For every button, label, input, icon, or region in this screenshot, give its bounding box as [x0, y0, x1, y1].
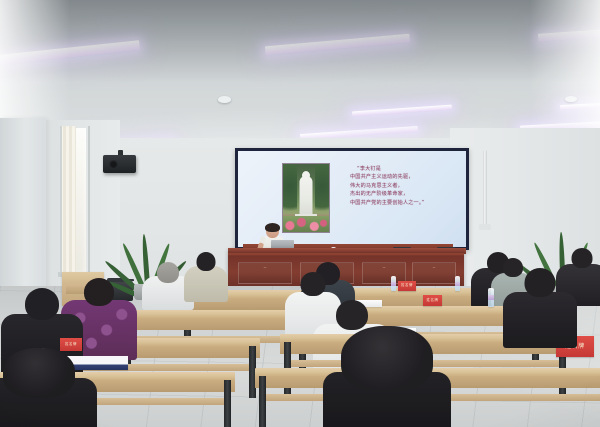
stage-desk-panel	[412, 262, 456, 284]
attendee-head	[301, 272, 326, 296]
slide-text-block: “李大钉是 中国共产主义运动的先驱， 伟大的马克思主义者， 杰出的无产阶级革命家…	[350, 165, 466, 207]
attendee-torso	[503, 292, 577, 348]
window-frame	[60, 126, 90, 276]
attendee-front-center-black	[322, 326, 452, 427]
attendee-head	[197, 252, 216, 271]
presenter-hair	[265, 223, 280, 232]
namecard-text: 姓名牌	[401, 284, 413, 287]
wall-speaker-icon	[103, 155, 136, 173]
desk-front-panel	[120, 318, 310, 330]
slide-text-line-5: 中国共产党的主要创始人之一。”	[350, 199, 466, 207]
stage-panel-chevron	[251, 267, 279, 275]
attendee-torso	[184, 266, 228, 302]
stage-panel-chevron	[370, 267, 398, 275]
wall-conduit-cap	[479, 224, 491, 230]
desk-namecard: 姓名牌	[423, 295, 442, 306]
statue-head	[302, 171, 310, 180]
attendee-front-left-nearest	[0, 348, 98, 427]
stage-desk-lip	[228, 248, 464, 253]
slide-text-line-3: 伟大的马克思主义者，	[350, 182, 466, 190]
attendee-head	[157, 262, 179, 283]
slide-foliage-right	[315, 164, 329, 220]
attendee-right-black-tee-2	[502, 268, 578, 344]
attendee-head	[341, 326, 433, 392]
wall-conduit-pipe	[483, 150, 487, 228]
stage-panel-chevron	[420, 267, 448, 275]
slide-text-line-2: 中国共产主义运动的先驱，	[350, 173, 466, 181]
attendee-head	[84, 278, 114, 306]
attendee-head	[3, 348, 75, 398]
water-bottle	[391, 276, 396, 291]
attendee-beige-top	[183, 252, 229, 300]
namecard-text: 姓名牌	[65, 343, 77, 346]
desk-leg	[224, 380, 231, 427]
water-bottle	[455, 276, 460, 291]
namecard-text: 姓名牌	[427, 299, 439, 302]
slide-foliage-left	[283, 164, 297, 220]
desk-leg	[259, 376, 266, 427]
desk-namecard: 姓名牌	[398, 281, 416, 291]
slide-photo-statue	[282, 163, 330, 233]
attendee-head	[572, 248, 593, 268]
attendee-head	[25, 288, 59, 320]
lecture-hall-photo: “李大钉是 中国共产主义运动的先驱， 伟大的马克思主义者， 杰出的无产阶级革命家…	[0, 0, 600, 427]
water-bottle	[488, 288, 494, 307]
attendee-head	[525, 268, 556, 297]
slide-text-line-4: 杰出的无产阶级革命家，	[350, 190, 466, 198]
slide-text-line-1: “李大钉是	[350, 165, 466, 173]
